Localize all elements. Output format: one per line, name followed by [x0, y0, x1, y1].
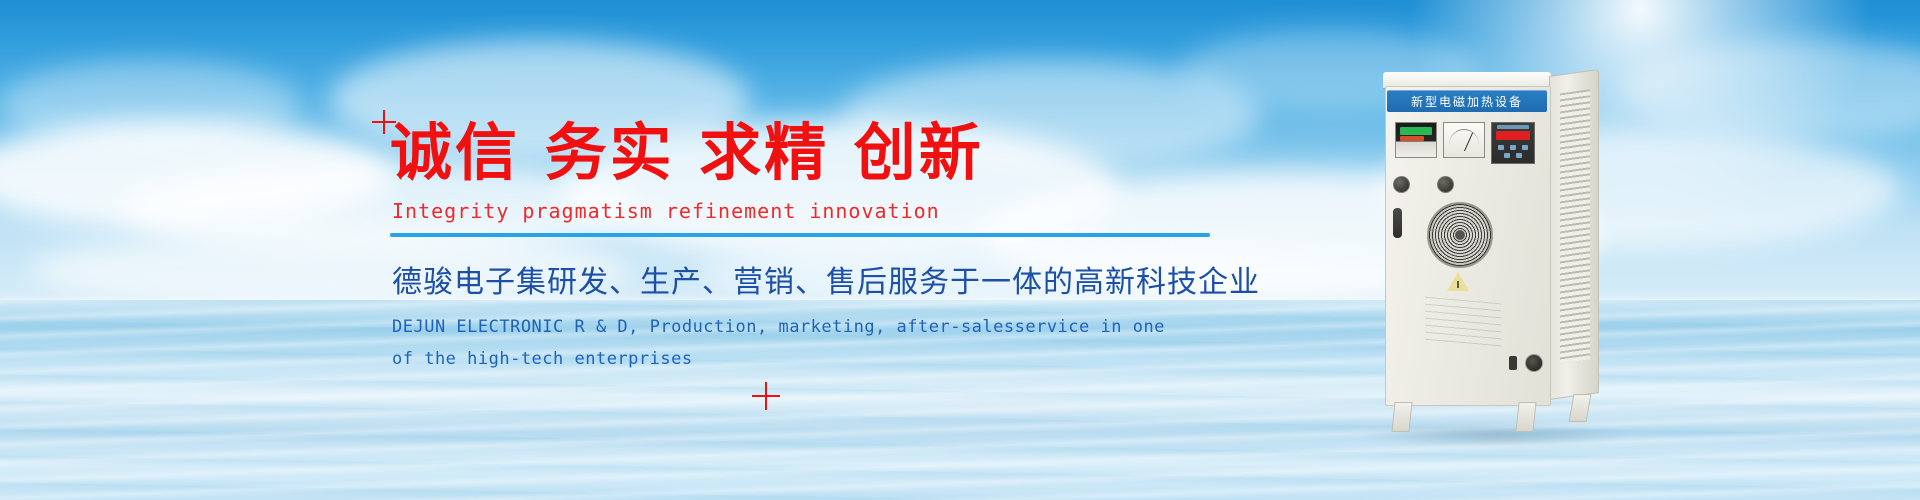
hero-banner: 诚信 务实 求精 创新 Integrity pragmatism refinem… — [0, 0, 1920, 500]
machine-foot — [1569, 394, 1592, 422]
headline-english: Integrity pragmatism refinement innovati… — [392, 199, 1250, 223]
machine-outlet — [1525, 354, 1543, 372]
divider — [390, 233, 1210, 237]
banner-text-block: 诚信 务实 求精 创新 Integrity pragmatism refinem… — [390, 120, 1250, 375]
led-keypad — [1491, 122, 1535, 164]
warning-triangle-icon — [1447, 272, 1469, 291]
tagline-english-line1: DEJUN ELECTRONIC R & D, Production, mark… — [392, 313, 1250, 343]
headline-chinese: 诚信 务实 求精 创新 — [390, 120, 1250, 185]
fan-grille-icon — [1427, 202, 1493, 268]
machine-handle — [1393, 208, 1402, 238]
machine-info-sticker — [1425, 297, 1501, 348]
plus-decoration-icon — [752, 382, 780, 410]
machine-control-panel — [1389, 120, 1547, 172]
tagline-chinese: 德骏电子集研发、生产、营销、售后服务于一体的高新科技企业 — [392, 257, 1250, 301]
machine-side-panel — [1549, 69, 1599, 400]
digital-display — [1395, 122, 1437, 158]
analog-meter — [1443, 122, 1485, 158]
tagline-english-line2: of the high-tech enterprises — [392, 345, 1250, 375]
rotary-knob-right — [1437, 176, 1454, 193]
machine-foot — [1515, 402, 1536, 432]
rotary-knob-left — [1393, 176, 1410, 193]
ventilation-slots — [1560, 89, 1590, 363]
machine-port — [1509, 356, 1517, 370]
machine-foot — [1391, 402, 1412, 432]
product-machine-image: 新型电磁加热设备 — [1375, 72, 1605, 432]
machine-label: 新型电磁加热设备 — [1387, 90, 1547, 112]
